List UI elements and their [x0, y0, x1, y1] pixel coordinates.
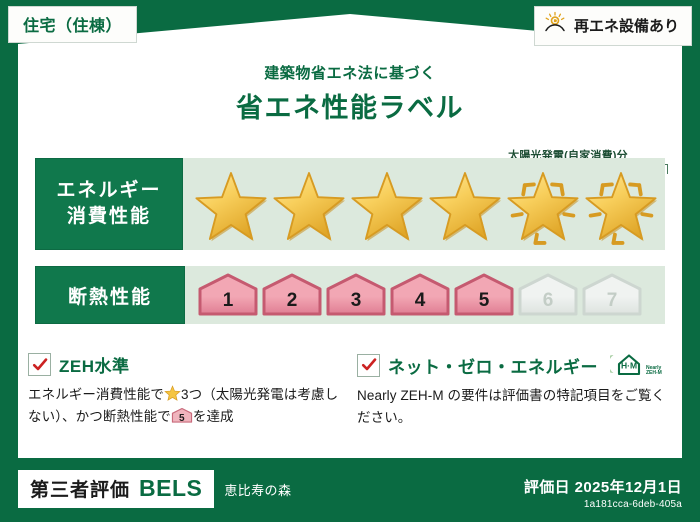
net-zero-note-header: ネット・ゼロ・エネルギー H·M Nearly ZEH-M — [357, 352, 672, 378]
net-zero-energy-note: ネット・ゼロ・エネルギー H·M Nearly ZEH-M Nearly ZEH… — [357, 352, 672, 429]
insulation-performance-row: 断熱性能 1 — [35, 266, 665, 324]
star-icon — [193, 170, 269, 246]
check-icon — [357, 354, 380, 377]
notes-section: ZEH水準 エネルギー消費性能で 3つ（太陽光発電は考慮しない）、かつ断熱性能で… — [28, 352, 672, 429]
insulation-grade-value: 6 — [517, 290, 579, 312]
footer-right: 評価日 2025年12月1日 1a181cca-6deb-405a — [524, 476, 682, 510]
building-type-label: 住宅（住棟） — [23, 12, 122, 36]
insulation-grade-scale: 1 2 — [185, 266, 665, 324]
insulation-grade-value: 4 — [389, 290, 451, 312]
energy-performance-label: 住宅（住棟） 再エネ設備あり 建築物省エネ法に基づく 省エネ性能ラベル — [0, 0, 700, 522]
check-icon — [28, 353, 51, 376]
sun-solar-icon — [543, 11, 567, 40]
page-title: 省エネ性能ラベル — [0, 86, 700, 125]
energy-performance-row-label: エネルギー 消費性能 — [35, 158, 183, 250]
insulation-grade-icon-value: 5 — [171, 414, 193, 424]
insulation-grade-value: 7 — [581, 290, 643, 312]
renewable-equipment-badge: 再エネ設備あり — [534, 6, 692, 46]
zeh-standard-note: ZEH水準 エネルギー消費性能で 3つ（太陽光発電は考慮しない）、かつ断熱性能で… — [28, 352, 343, 429]
evaluation-date: 評価日 2025年12月1日 — [524, 476, 682, 497]
zeh-m-caption-line2: ZEH-M — [646, 370, 662, 376]
insulation-grade-4: 4 — [389, 273, 451, 317]
insulation-grade-2: 2 — [261, 273, 323, 317]
zeh-note-body: エネルギー消費性能で 3つ（太陽光発電は考慮しない）、かつ断熱性能で 5 を達成 — [28, 384, 343, 428]
zeh-m-logo: H·M Nearly ZEH-M — [610, 352, 662, 378]
zeh-body-part3: を達成 — [193, 409, 234, 424]
svg-text:H·M: H·M — [621, 361, 637, 371]
energy-star-rating — [183, 158, 665, 250]
insulation-grade-5: 5 — [453, 273, 515, 317]
zeh-m-logo-caption: Nearly ZEH-M — [646, 366, 662, 379]
building-type-badge: 住宅（住棟） — [8, 6, 137, 43]
energy-label-line2: 消費性能 — [67, 204, 151, 230]
label-title-block: 建築物省エネ法に基づく 省エネ性能ラベル — [0, 62, 700, 125]
star-icon-solar — [583, 170, 659, 246]
insulation-grade-icon: 5 — [171, 407, 193, 424]
net-zero-note-title: ネット・ゼロ・エネルギー — [388, 353, 598, 378]
footer-left: 第三者評価 BELS 恵比寿の森 — [18, 470, 291, 508]
building-name: 恵比寿の森 — [224, 480, 291, 499]
star-icon — [164, 385, 181, 402]
insulation-grade-value: 2 — [261, 290, 323, 312]
star-icon — [349, 170, 425, 246]
insulation-label: 断熱性能 — [68, 282, 152, 309]
insulation-grade-value: 5 — [453, 290, 515, 312]
insulation-grade-1: 1 — [197, 273, 259, 317]
insulation-grade-6: 6 — [517, 273, 579, 317]
label-subtitle: 建築物省エネ法に基づく — [0, 62, 700, 83]
insulation-performance-row-label: 断熱性能 — [35, 266, 185, 324]
bels-certification-badge: 第三者評価 BELS — [18, 470, 214, 508]
renewable-equipment-label: 再エネ設備あり — [574, 15, 679, 36]
energy-label-line1: エネルギー — [56, 178, 161, 204]
star-icon — [271, 170, 347, 246]
third-party-eval-label: 第三者評価 — [30, 475, 130, 502]
zeh-note-title: ZEH水準 — [59, 352, 130, 377]
net-zero-note-body: Nearly ZEH-M の要件は評価書の特記項目をご覧ください。 — [357, 385, 672, 429]
zeh-note-header: ZEH水準 — [28, 352, 343, 377]
insulation-grade-value: 3 — [325, 290, 387, 312]
star-icon-solar — [505, 170, 581, 246]
insulation-grade-value: 1 — [197, 290, 259, 312]
evaluation-id: 1a181cca-6deb-405a — [524, 499, 682, 510]
zeh-body-part1: エネルギー消費性能で — [28, 387, 164, 402]
energy-performance-row: エネルギー 消費性能 — [35, 158, 665, 250]
insulation-grade-3: 3 — [325, 273, 387, 317]
star-icon — [427, 170, 503, 246]
insulation-grade-7: 7 — [581, 273, 643, 317]
bels-logo: BELS — [139, 475, 202, 502]
